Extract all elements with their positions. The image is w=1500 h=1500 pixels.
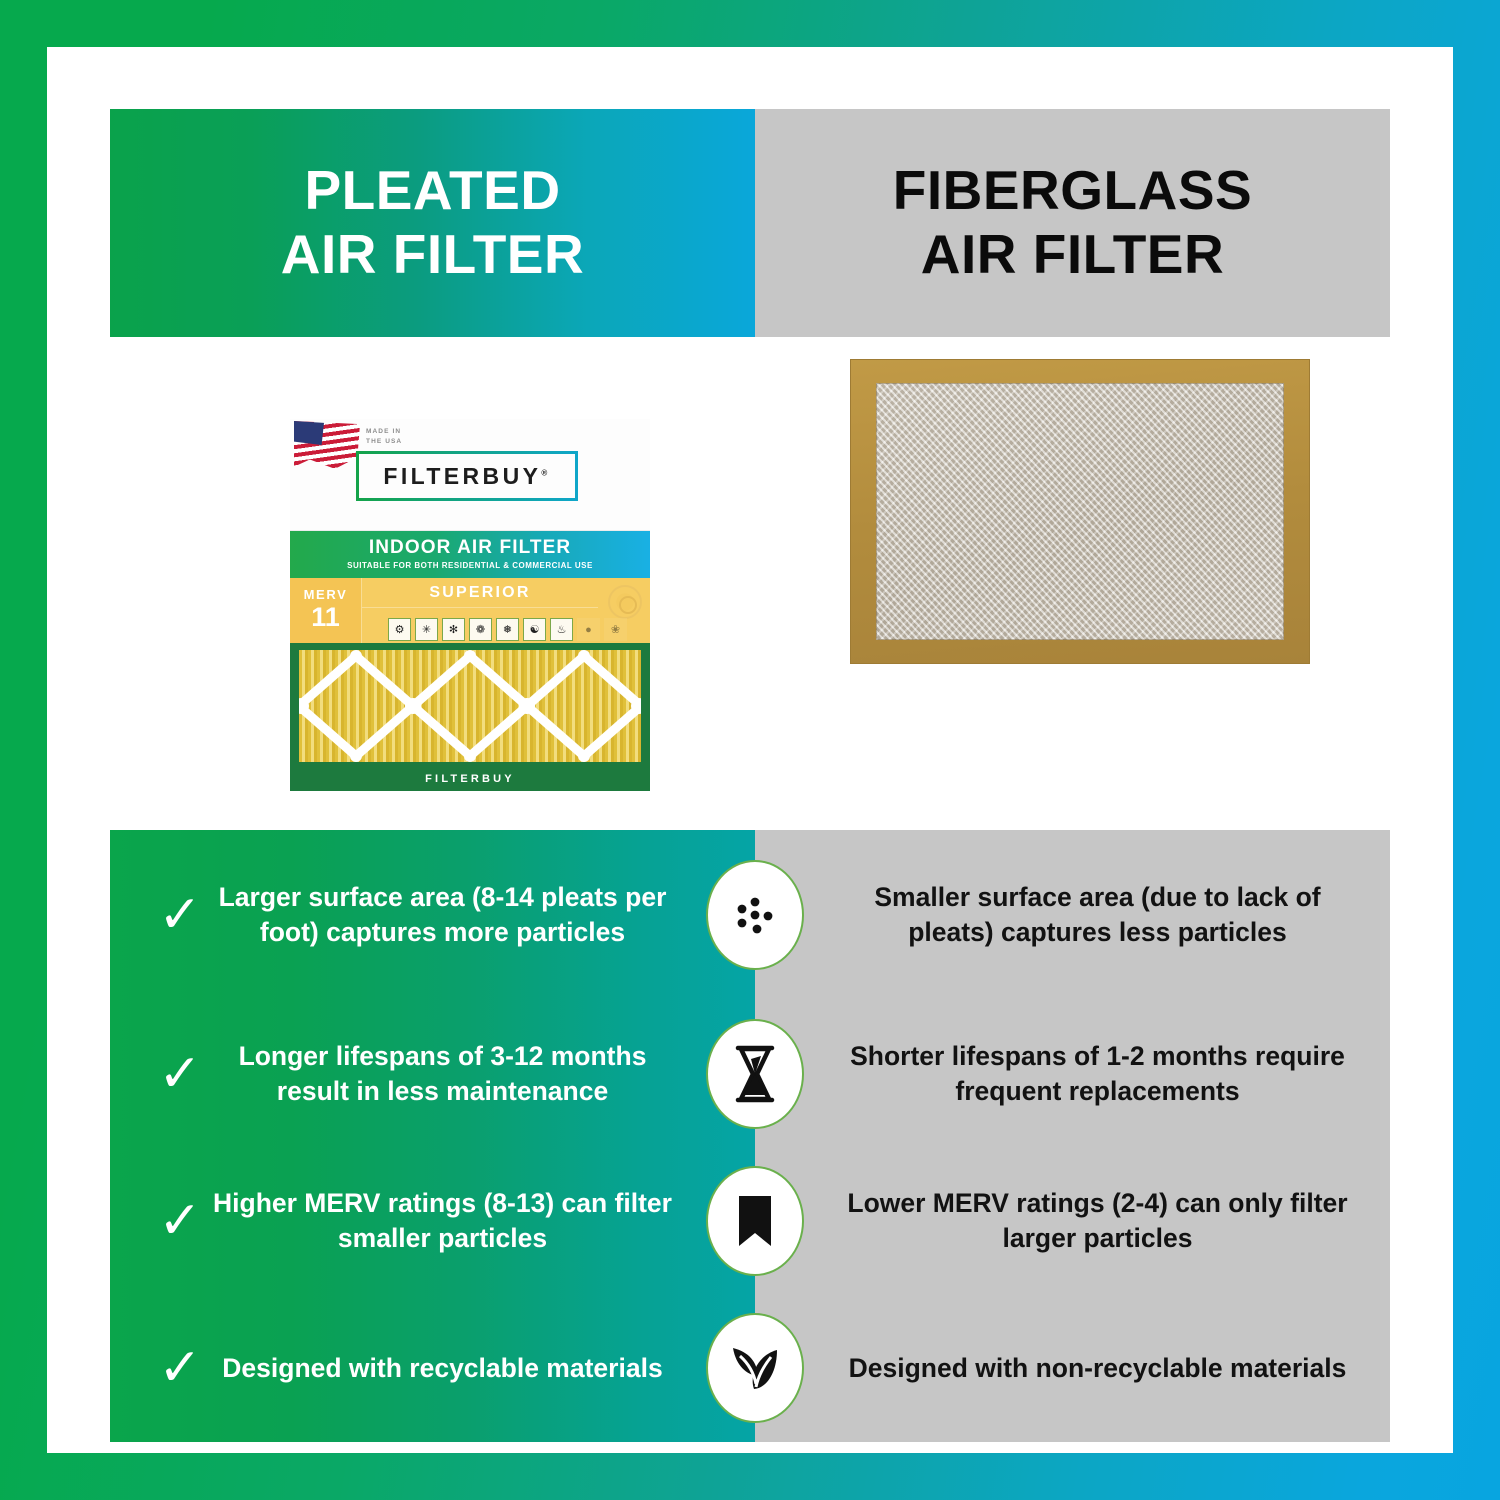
feature-tile-icon: ✻	[442, 618, 465, 641]
merv-rating-block: MERV 11	[290, 578, 362, 643]
comparison-right-cell: Smaller surface area (due to lack of ple…	[755, 830, 1390, 1000]
feature-tile-icon: ☯	[523, 618, 546, 641]
header-right-title: FIBERGLASS AIR FILTER	[893, 159, 1252, 287]
bookmark-icon-glyph	[735, 1194, 775, 1248]
comparison-row: ✓ Longer lifespans of 3-12 months result…	[110, 1000, 1390, 1147]
merv-label: MERV	[290, 587, 361, 602]
header-left-title: PLEATED AIR FILTER	[281, 159, 584, 287]
made-in-usa-label: MADE IN THE USA	[366, 427, 402, 447]
comparison-left-cell: ✓ Longer lifespans of 3-12 months result…	[110, 1000, 755, 1147]
comparison-rows: ✓ Larger surface area (8-14 pleats per f…	[110, 830, 1390, 1442]
feature-tile-icon-disabled: ❀	[604, 618, 627, 641]
comparison-section: ✓ Larger surface area (8-14 pleats per f…	[110, 830, 1390, 1442]
certification-seal-icon	[608, 585, 642, 619]
comparison-right-text: Shorter lifespans of 1-2 months require …	[845, 1039, 1350, 1109]
comparison-right-text: Designed with non-recyclable materials	[845, 1351, 1350, 1386]
leaf-icon	[711, 1318, 799, 1418]
fiberglass-filter-frame	[850, 359, 1310, 664]
header-left-panel: PLEATED AIR FILTER	[110, 109, 755, 337]
particles-icon	[711, 865, 799, 965]
comparison-left-text: Longer lifespans of 3-12 months result i…	[212, 1039, 731, 1109]
feature-tile-icon: ✳	[415, 618, 438, 641]
checkmark-icon: ✓	[148, 1195, 212, 1247]
comparison-row: ✓ Higher MERV ratings (8-13) can filter …	[110, 1147, 1390, 1294]
hourglass-icon	[711, 1024, 799, 1124]
header-right-panel: FIBERGLASS AIR FILTER	[755, 109, 1390, 337]
particles-icon-glyph	[729, 889, 781, 941]
comparison-right-text: Lower MERV ratings (2-4) can only filter…	[845, 1186, 1350, 1256]
checkmark-icon: ✓	[148, 1342, 212, 1394]
poster-canvas: PLEATED AIR FILTER FIBERGLASS AIR FILTER…	[47, 47, 1453, 1453]
feature-icon-strip: ⚙ ✳ ✻ ❁ ❅ ☯ ♨ ● ❀	[388, 618, 640, 641]
fiberglass-mesh	[876, 383, 1284, 640]
checkmark-icon: ✓	[148, 1048, 212, 1100]
registered-mark: ®	[541, 468, 550, 477]
leaf-icon-glyph	[727, 1342, 783, 1394]
usa-flag-canton-icon	[294, 421, 324, 445]
comparison-right-text: Smaller surface area (due to lack of ple…	[845, 880, 1350, 950]
grade-label: SUPERIOR	[362, 584, 598, 608]
comparison-row: ✓ Designed with recyclable materials Des…	[110, 1295, 1390, 1442]
comparison-row: ✓ Larger surface area (8-14 pleats per f…	[110, 830, 1390, 1000]
comparison-left-text: Higher MERV ratings (8-13) can filter sm…	[212, 1186, 731, 1256]
band-subtitle: SUITABLE FOR BOTH RESIDENTIAL & COMMERCI…	[290, 561, 650, 570]
comparison-right-cell: Shorter lifespans of 1-2 months require …	[755, 1000, 1390, 1147]
feature-tile-icon-disabled: ●	[577, 618, 600, 641]
checkmark-icon: ✓	[148, 889, 212, 941]
fiberglass-filter-photo-cell	[750, 337, 1390, 783]
feature-tile-icon: ⚙	[388, 618, 411, 641]
bookmark-icon	[711, 1171, 799, 1271]
feature-tile-icon: ❁	[469, 618, 492, 641]
merv-value: 11	[290, 604, 361, 631]
product-photo-row: MADE IN THE USA FILTERBUY® INDOOR AIR FI…	[110, 337, 1390, 783]
merv-band: MERV 11 SUPERIOR ⚙ ✳ ✻ ❁ ❅	[290, 578, 650, 643]
poster-frame: PLEATED AIR FILTER FIBERGLASS AIR FILTER…	[0, 0, 1500, 1500]
comparison-left-text: Designed with recyclable materials	[212, 1351, 731, 1386]
comparison-left-cell: ✓ Higher MERV ratings (8-13) can filter …	[110, 1147, 755, 1294]
support-wire-grid-icon	[299, 650, 641, 762]
pleated-filter-photo-cell: MADE IN THE USA FILTERBUY® INDOOR AIR FI…	[110, 337, 750, 783]
pleat-field	[299, 650, 641, 762]
pleated-media-area: FILTERBUY	[290, 643, 650, 791]
comparison-left-cell: ✓ Larger surface area (8-14 pleats per f…	[110, 830, 755, 1000]
merv-right-area: SUPERIOR ⚙ ✳ ✻ ❁ ❅ ☯ ♨ ● ❀	[362, 578, 650, 643]
package-top-panel: MADE IN THE USA FILTERBUY®	[290, 419, 650, 531]
feature-tile-icon: ❅	[496, 618, 519, 641]
band-title: INDOOR AIR FILTER	[290, 537, 650, 559]
filterbuy-logo: FILTERBUY®	[356, 451, 578, 501]
comparison-right-cell: Lower MERV ratings (2-4) can only filter…	[755, 1147, 1390, 1294]
comparison-right-cell: Designed with non-recyclable materials	[755, 1295, 1390, 1442]
header-row: PLEATED AIR FILTER FIBERGLASS AIR FILTER	[110, 109, 1390, 337]
feature-tile-icon: ♨	[550, 618, 573, 641]
package-bottom-brand: FILTERBUY	[290, 773, 650, 785]
hourglass-icon-glyph	[730, 1045, 780, 1103]
comparison-left-text: Larger surface area (8-14 pleats per foo…	[212, 880, 731, 950]
comparison-left-cell: ✓ Designed with recyclable materials	[110, 1295, 755, 1442]
pleated-filter-package: MADE IN THE USA FILTERBUY® INDOOR AIR FI…	[290, 419, 650, 791]
indoor-air-filter-band: INDOOR AIR FILTER SUITABLE FOR BOTH RESI…	[290, 531, 650, 578]
filterbuy-logo-text: FILTERBUY	[383, 463, 541, 489]
